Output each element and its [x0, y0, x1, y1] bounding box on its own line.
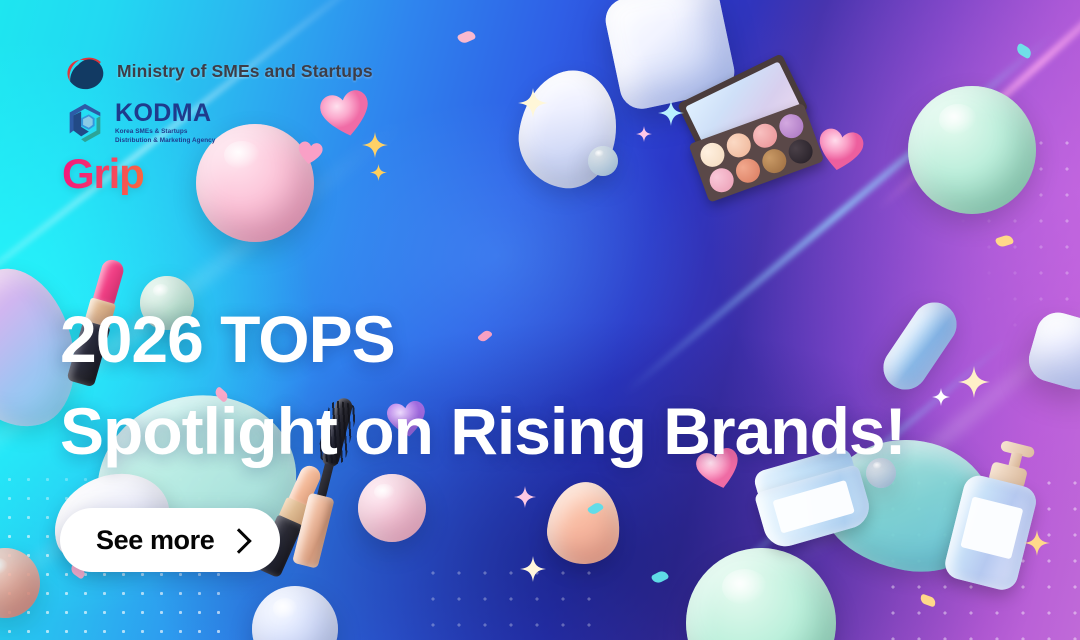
kodma-wordmark: KODMA	[115, 101, 215, 126]
logo-stack: Ministry of SMEs and Startups KODMA Kore…	[62, 48, 373, 195]
chevron-right-icon	[227, 528, 252, 553]
kodma-tagline-line2: Distribution & Marketing Agency	[115, 137, 215, 145]
kodma-tagline-line1: Korea SMEs & Startups	[115, 128, 215, 136]
ministry-label: Ministry of SMEs and Startups	[117, 61, 373, 82]
headline-block: 2026 TOPS Spotlight on Rising Brands!	[60, 306, 906, 464]
see-more-label: See more	[96, 527, 214, 554]
kodma-text-block: KODMA Korea SMEs & Startups Distribution…	[115, 101, 215, 145]
grip-wordmark[interactable]: Grip	[62, 153, 144, 195]
headline-line-2: Spotlight on Rising Brands!	[60, 398, 906, 464]
promo-banner: Ministry of SMEs and Startups KODMA Kore…	[0, 0, 1080, 640]
see-more-button[interactable]: See more	[60, 508, 280, 572]
headline-line-1: 2026 TOPS	[60, 306, 906, 372]
kodma-logo-row[interactable]: KODMA Korea SMEs & Startups Distribution…	[62, 100, 373, 146]
korea-taegeuk-emblem-icon	[62, 48, 108, 94]
kodma-hexagon-mark-icon	[62, 100, 108, 146]
ministry-logo-row[interactable]: Ministry of SMEs and Startups	[62, 48, 373, 94]
